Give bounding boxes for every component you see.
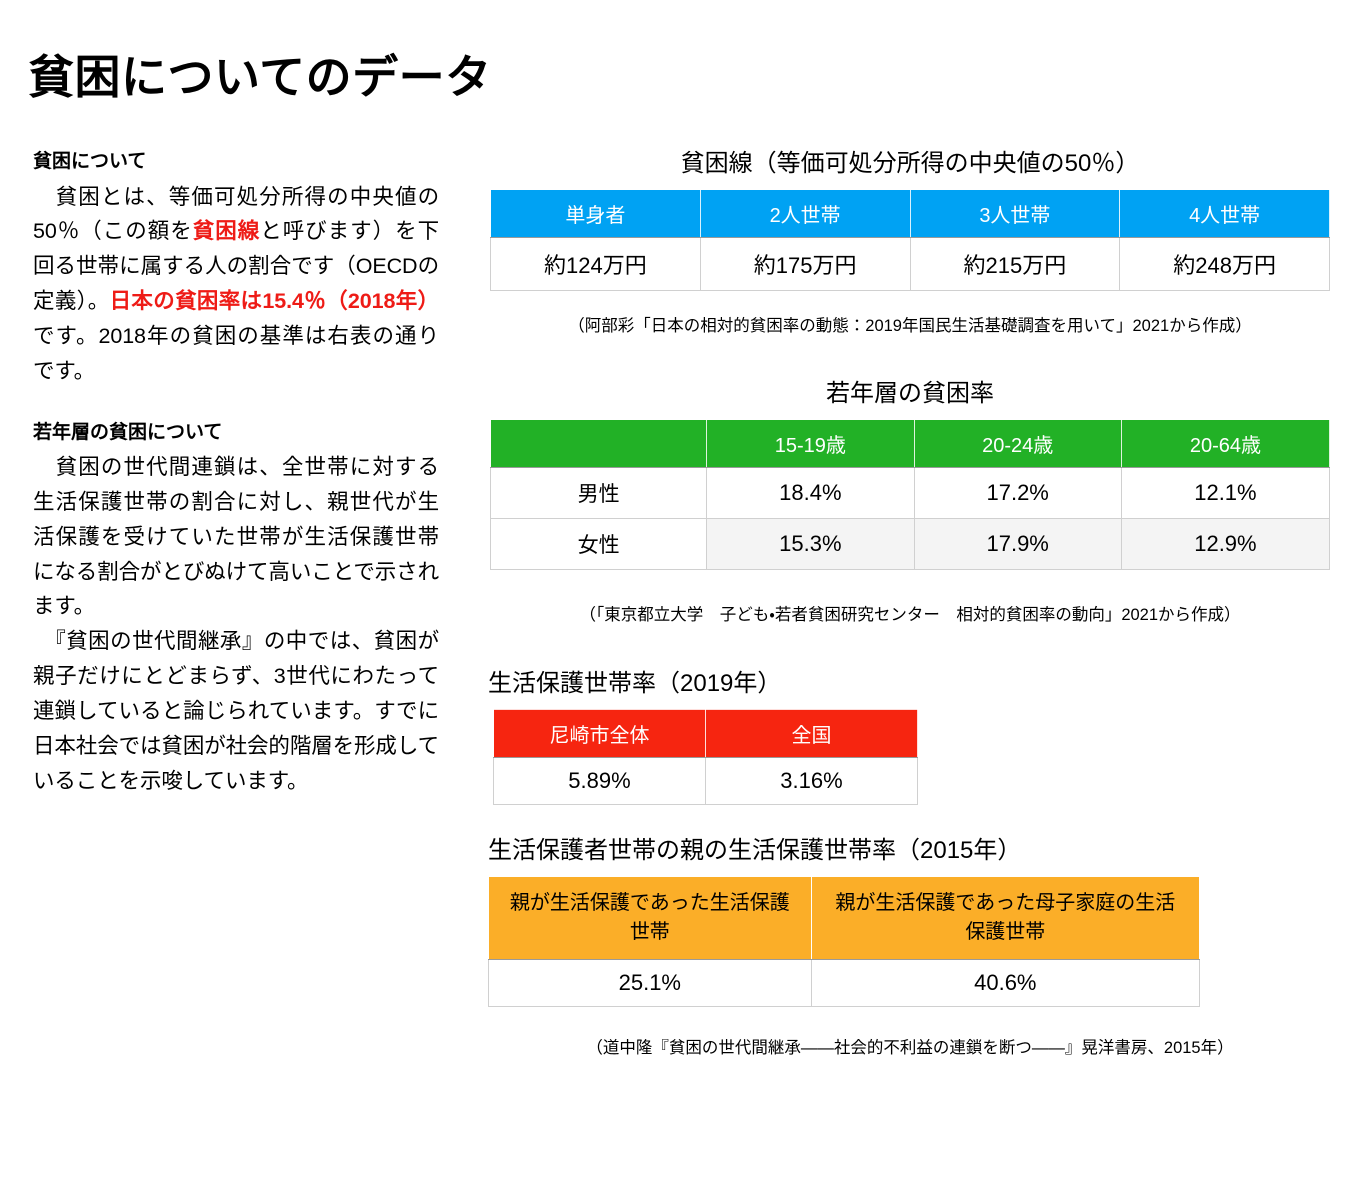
row-label-male: 男性 <box>491 468 707 519</box>
column-header-nationwide: 全国 <box>706 709 918 757</box>
value-male-20-24: 17.2% <box>914 468 1121 519</box>
highlight-poverty-line-term: 貧困線 <box>193 219 260 243</box>
column-header-age-20-24: 20-24歳 <box>914 420 1121 468</box>
citation-parent-welfare: （道中隆『貧困の世代間継承――社会的不利益の連鎖を断つ――』晃洋書房、2015年… <box>470 1037 1350 1060</box>
column-header-age-15-19: 15-19歳 <box>707 420 914 468</box>
section-heading-youth-poverty: 若年層の貧困について <box>33 419 439 447</box>
paragraph-text-part: です。2018年の貧困の基準は右表の通りです。 <box>33 324 439 383</box>
table-title-parent-welfare: 生活保護者世帯の親の生活保護世帯率（2015年） <box>470 835 1350 866</box>
value-parent-welfare-household: 25.1% <box>489 959 812 1006</box>
column-header-age-20-64: 20-64歳 <box>1121 420 1329 468</box>
table-header-row: 親が生活保護であった生活保護世帯 親が生活保護であった母子家庭の生活保護世帯 <box>489 876 1200 959</box>
left-text-column: 貧困について 貧困とは、等価可処分所得の中央値の50％（この額を貧困線と呼びます… <box>33 148 439 798</box>
section-heading-poverty: 貧困について <box>33 148 439 176</box>
table-header-row: 15-19歳 20-24歳 20-64歳 <box>491 420 1330 468</box>
section-spacer <box>33 389 439 419</box>
table-title-youth-poverty: 若年層の貧困率 <box>470 378 1350 409</box>
right-tables-column: 貧困線（等価可処分所得の中央値の50％） 単身者 2人世帯 3人世帯 4人世帯 … <box>470 148 1350 1060</box>
table-welfare-rate: 尼崎市全体 全国 5.89% 3.16% <box>493 709 918 805</box>
table-title-welfare-rate: 生活保護世帯率（2019年） <box>470 668 1350 699</box>
column-header-amagasaki-city: 尼崎市全体 <box>494 709 706 757</box>
table-row: 男性 18.4% 17.2% 12.1% <box>491 468 1330 519</box>
column-header-three-person: 3人世帯 <box>910 190 1120 238</box>
table-row: 約124万円 約175万円 約215万円 約248万円 <box>491 238 1330 291</box>
table-title-poverty-line: 貧困線（等価可処分所得の中央値の50％） <box>470 148 1350 179</box>
citation-youth-poverty: （「東京都立大学 子ども・若者貧困研究センター 相対的貧困率の動向」2021から… <box>470 604 1350 627</box>
value-parent-welfare-single-mother: 40.6% <box>811 959 1199 1006</box>
spacer <box>470 628 1350 668</box>
table-row: 女性 15.3% 17.9% 12.9% <box>491 519 1330 570</box>
value-nationwide: 3.16% <box>706 757 918 804</box>
row-label-female: 女性 <box>491 519 707 570</box>
table-row: 25.1% 40.6% <box>489 959 1200 1006</box>
value-three-person: 約215万円 <box>910 238 1120 291</box>
table-header-row: 尼崎市全体 全国 <box>494 709 918 757</box>
value-female-15-19: 15.3% <box>707 519 914 570</box>
spacer <box>470 291 1350 315</box>
value-four-person: 約248万円 <box>1120 238 1330 291</box>
table-row: 5.89% 3.16% <box>494 757 918 804</box>
value-male-15-19: 18.4% <box>707 468 914 519</box>
citation-poverty-line: （阿部彩「日本の相対的貧困率の動態：2019年国民生活基礎調査を用いて」2021… <box>470 315 1350 338</box>
value-female-20-64: 12.9% <box>1121 519 1329 570</box>
column-header-parent-welfare-single-mother: 親が生活保護であった母子家庭の生活保護世帯 <box>811 876 1199 959</box>
paragraph-intergenerational-chain: 貧困の世代間連鎖は、全世帯に対する生活保護世帯の割合に対し、親世代が生活保護を受… <box>33 450 439 624</box>
column-header-two-person: 2人世帯 <box>700 190 910 238</box>
value-male-20-64: 12.1% <box>1121 468 1329 519</box>
paragraph-poverty-definition: 貧困とは、等価可処分所得の中央値の50％（この額を貧困線と呼びます）を下回る世帯… <box>33 180 439 389</box>
spacer <box>470 1007 1350 1037</box>
table-header-row: 単身者 2人世帯 3人世帯 4人世帯 <box>491 190 1330 238</box>
table-youth-poverty: 15-19歳 20-24歳 20-64歳 男性 18.4% 17.2% 12.1… <box>490 419 1330 570</box>
value-amagasaki-city: 5.89% <box>494 757 706 804</box>
spacer <box>470 338 1350 378</box>
column-header-four-person: 4人世帯 <box>1120 190 1330 238</box>
table-parent-welfare: 親が生活保護であった生活保護世帯 親が生活保護であった母子家庭の生活保護世帯 2… <box>488 876 1200 1007</box>
column-header-single-person: 単身者 <box>491 190 701 238</box>
paragraph-book-discussion: 『貧困の世代間継承』の中では、貧困が親子だけにとどまらず、3世代にわたって連鎖し… <box>33 624 439 798</box>
table-poverty-line: 単身者 2人世帯 3人世帯 4人世帯 約124万円 約175万円 約215万円 … <box>490 189 1330 291</box>
spacer <box>470 805 1350 835</box>
value-single-person: 約124万円 <box>491 238 701 291</box>
value-two-person: 約175万円 <box>700 238 910 291</box>
page-title: 貧困についてのデータ <box>28 51 492 104</box>
spacer <box>470 570 1350 604</box>
value-female-20-24: 17.9% <box>914 519 1121 570</box>
column-header-parent-welfare-household: 親が生活保護であった生活保護世帯 <box>489 876 812 959</box>
highlight-japan-poverty-rate: 日本の貧困率は15.4％（2018年） <box>110 289 439 313</box>
column-header-corner-blank <box>491 420 707 468</box>
